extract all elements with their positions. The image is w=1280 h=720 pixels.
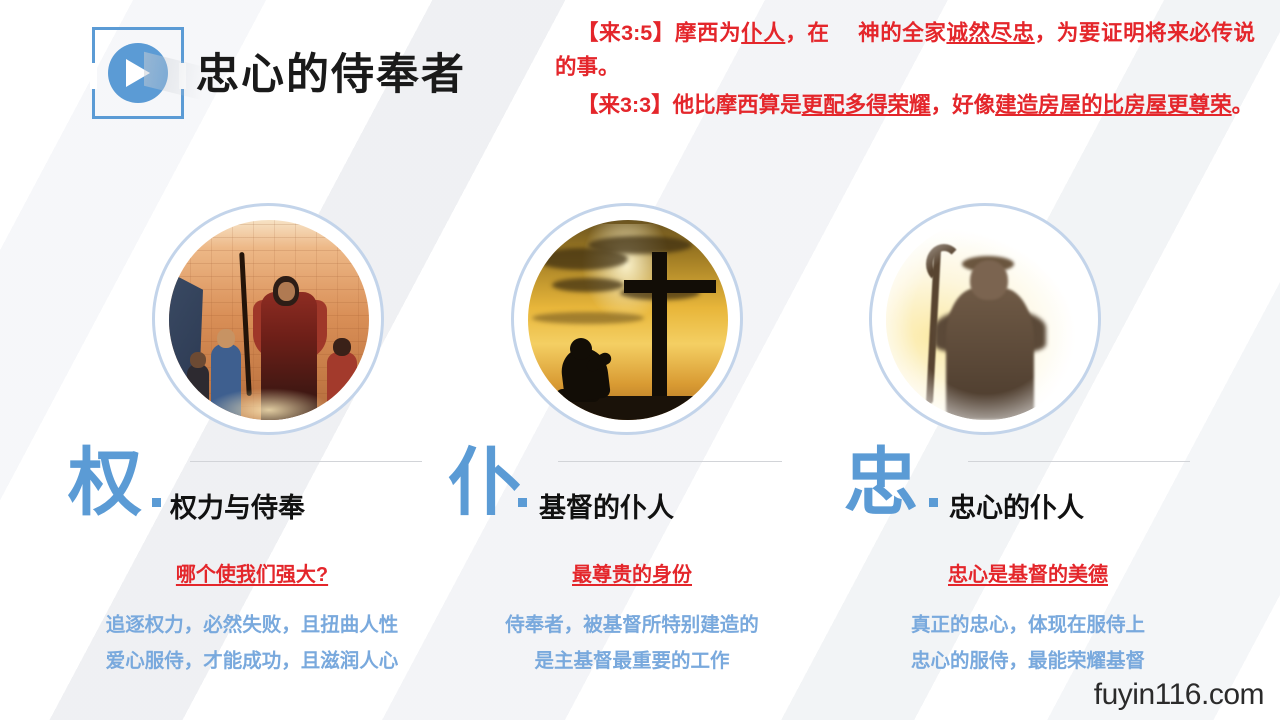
column-2-red-heading: 最尊贵的身份 xyxy=(432,558,832,587)
verse-2-seg-0: 他比摩西算是 xyxy=(673,93,802,117)
verse-2-seg-4: 。 xyxy=(1232,93,1254,117)
photo-moses-leading-people xyxy=(152,203,384,435)
column-3-line-1: 真正的忠心，体现在服侍上 xyxy=(828,607,1228,643)
verse-2-seg-1: 更配多得荣耀 xyxy=(802,93,931,117)
verse-2-seg-2: ，好像 xyxy=(931,93,996,117)
column-3-line-2: 忠心的服侍，最能荣耀基督 xyxy=(828,643,1228,679)
play-button-icon[interactable] xyxy=(108,43,168,103)
presentation-slide: 忠心的侍奉者 【来3:5】摩西为仆人，在 神的全家诚然尽忠，为要证明将来必传说的… xyxy=(0,0,1280,720)
verse-1-seg-1: 仆人 xyxy=(741,21,785,45)
column-3-lines: 真正的忠心，体现在服侍上 忠心的服侍，最能荣耀基督 xyxy=(828,607,1228,679)
column-3-subhead: 忠心的仆人 xyxy=(949,486,1084,525)
scripture-block: 【来3:5】摩西为仆人，在 神的全家诚然尽忠，为要证明将来必传说的事。 【来3:… xyxy=(555,16,1255,126)
verse-1-seg-0: 摩西为 xyxy=(675,21,741,45)
column-servant: 仆 基督的仆人 最尊贵的身份 侍奉者，被基督所特别建造的 是主基督最重要的工作 xyxy=(432,452,832,679)
column-1-divider xyxy=(190,461,422,462)
column-1-red-heading: 哪个使我们强大? xyxy=(52,558,452,587)
verse-1-seg-2: ，在 神的全家 xyxy=(785,21,946,45)
verse-1-seg-3: 诚然尽忠 xyxy=(946,21,1034,45)
column-power: 权 权力与侍奉 哪个使我们强大? 追逐权力，必然失败，且扭曲人性 爱心服侍，才能… xyxy=(52,452,452,679)
column-2-lines: 侍奉者，被基督所特别建造的 是主基督最重要的工作 xyxy=(432,607,832,679)
column-2-subhead: 基督的仆人 xyxy=(539,486,674,525)
column-1-line-1: 追逐权力，必然失败，且扭曲人性 xyxy=(52,607,452,643)
page-title: 忠心的侍奉者 xyxy=(196,40,466,102)
site-watermark: fuyin116.com xyxy=(1094,678,1264,712)
column-1-dot xyxy=(152,498,161,507)
photo-kneeling-at-cross xyxy=(511,203,743,435)
column-3-divider xyxy=(968,461,1190,462)
column-3-red-heading: 忠心是基督的美德 xyxy=(828,558,1228,587)
column-3-big-char: 忠 xyxy=(844,446,918,520)
column-2-divider xyxy=(558,461,782,462)
column-2-line-1: 侍奉者，被基督所特别建造的 xyxy=(432,607,832,643)
verse-1-ref: 【来3:5】 xyxy=(577,21,675,45)
verse-2-seg-3: 建造房屋的比房屋更尊荣 xyxy=(995,93,1232,117)
photo-shepherd-with-staff xyxy=(869,203,1101,435)
column-1-big-char: 权 xyxy=(68,446,142,520)
column-3-header: 忠 忠心的仆人 xyxy=(828,452,1228,528)
column-1-subhead: 权力与侍奉 xyxy=(170,486,305,525)
column-2-header: 仆 基督的仆人 xyxy=(432,452,832,528)
column-1-line-2: 爱心服侍，才能成功，且滋润人心 xyxy=(52,643,452,679)
scripture-verse-2: 【来3:3】他比摩西算是更配多得荣耀，好像建造房屋的比房屋更尊荣。 xyxy=(555,88,1255,122)
verse-2-ref: 【来3:3】 xyxy=(577,93,673,117)
column-1-lines: 追逐权力，必然失败，且扭曲人性 爱心服侍，才能成功，且滋润人心 xyxy=(52,607,452,679)
column-faithful: 忠 忠心的仆人 忠心是基督的美德 真正的忠心，体现在服侍上 忠心的服侍，最能荣耀… xyxy=(828,452,1228,679)
column-2-dot xyxy=(518,498,527,507)
logo-mark xyxy=(92,27,184,119)
scripture-verse-1: 【来3:5】摩西为仆人，在 神的全家诚然尽忠，为要证明将来必传说的事。 xyxy=(555,16,1255,84)
column-2-line-2: 是主基督最重要的工作 xyxy=(432,643,832,679)
column-3-dot xyxy=(929,498,938,507)
column-1-header: 权 权力与侍奉 xyxy=(52,452,452,528)
column-2-big-char: 仆 xyxy=(448,446,522,520)
